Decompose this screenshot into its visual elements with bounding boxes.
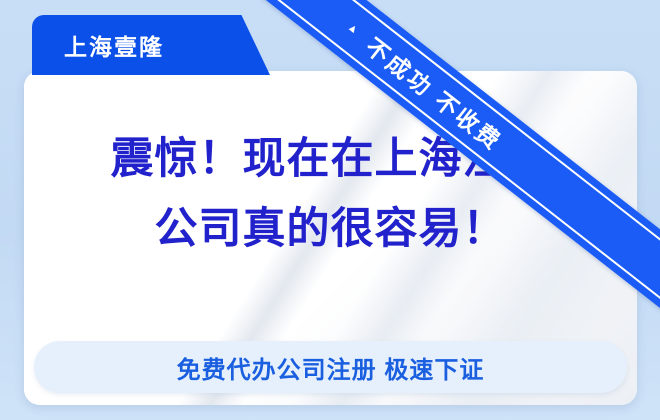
brand-tab-label: 上海壹隆 <box>32 28 164 62</box>
brand-tab[interactable]: 上海壹隆 <box>32 15 270 75</box>
footer-pill-label: 免费代办公司注册 极速下证 <box>177 350 485 385</box>
triangle-up-icon: ▲ <box>345 21 360 36</box>
footer-pill-banner[interactable]: 免费代办公司注册 极速下证 <box>34 341 627 393</box>
content-card: 震惊！现在在上海注册 公司真的很容易！ 免费代办公司注册 极速下证 <box>24 71 637 405</box>
promo-poster: 震惊！现在在上海注册 公司真的很容易！ 免费代办公司注册 极速下证 上海壹隆 ▲… <box>0 0 660 420</box>
